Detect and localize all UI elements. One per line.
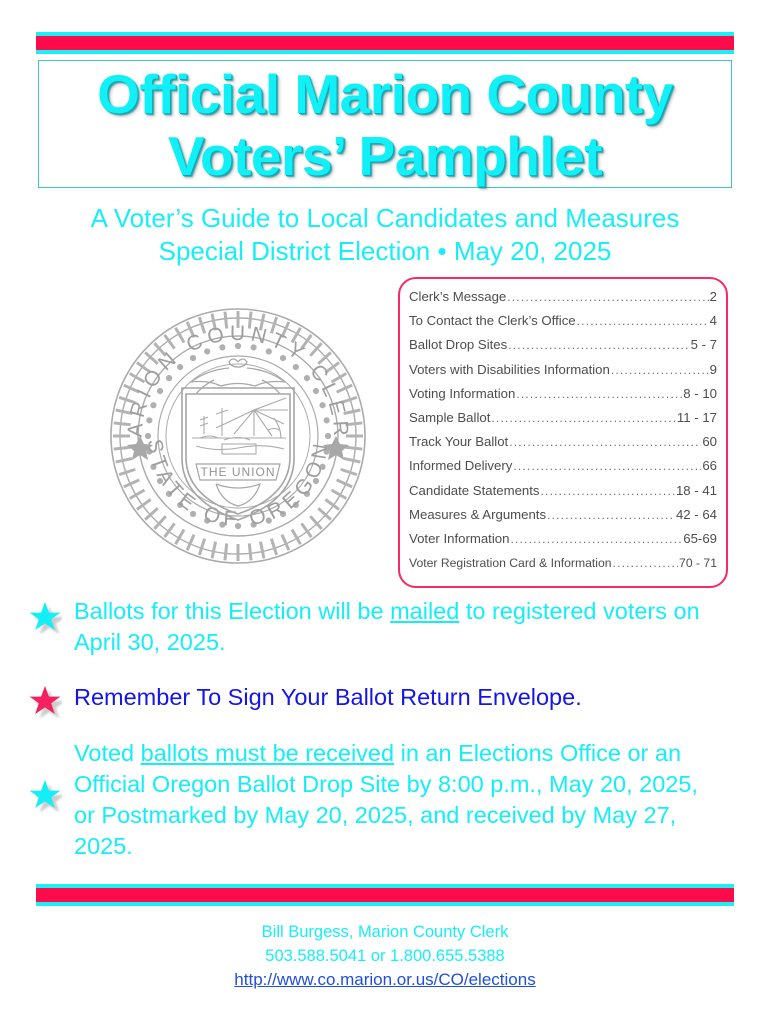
- toc-entry-label: Voter Registration Card & Information: [409, 551, 612, 575]
- toc-entry-label: Track Your Ballot: [409, 430, 508, 454]
- toc-entry-label: Clerk’s Message: [409, 285, 506, 309]
- toc-entry-pages: 42 - 64: [676, 503, 717, 527]
- star-icon: [28, 778, 62, 812]
- toc-leader-dots: ........................................…: [510, 527, 682, 551]
- toc-entry[interactable]: Track Your Ballot ......................…: [409, 430, 717, 454]
- toc-entry[interactable]: Voter Registration Card & Information ..…: [409, 551, 717, 575]
- toc-entry-label: Voting Information: [409, 382, 515, 406]
- toc-leader-dots: ........................................…: [516, 382, 682, 406]
- toc-entry-label: Informed Delivery: [409, 454, 512, 478]
- emphasis-must-be-received: ballots must be received: [141, 740, 394, 766]
- footer: Bill Burgess, Marion County Clerk 503.58…: [0, 920, 770, 992]
- toc-entry-label: Candidate Statements: [409, 479, 540, 503]
- footer-clerk-name: Bill Burgess, Marion County Clerk: [0, 920, 770, 944]
- svg-text:STATE OF OREGON: STATE OF OREGON: [143, 437, 334, 531]
- table-of-contents: Clerk’s Message ........................…: [398, 277, 728, 588]
- toc-entry-pages: 5 - 7: [691, 333, 717, 357]
- subtitle-line-2: Special District Election • May 20, 2025: [0, 235, 770, 268]
- toc-entry-pages: 60: [702, 430, 717, 454]
- toc-entry-label: Measures & Arguments: [409, 503, 546, 527]
- toc-entry[interactable]: Ballot Drop Sites ......................…: [409, 333, 717, 357]
- toc-leader-dots: ........................................…: [491, 406, 676, 430]
- toc-entry-label: Ballot Drop Sites: [409, 333, 507, 357]
- top-rule-bar: [36, 32, 734, 54]
- star-icon: [28, 600, 62, 634]
- toc-entry[interactable]: Candidate Statements ...................…: [409, 479, 717, 503]
- toc-leader-dots: ........................................…: [508, 333, 689, 357]
- toc-entry[interactable]: Informed Delivery ......................…: [409, 454, 717, 478]
- toc-leader-dots: ........................................…: [577, 309, 709, 333]
- toc-leader-dots: ........................................…: [509, 430, 701, 454]
- star-icon: [28, 684, 62, 718]
- toc-entry-label: To Contact the Clerk’s Office: [409, 309, 576, 333]
- emphasis-mailed: mailed: [390, 598, 459, 624]
- page-title-line-1: Official Marion County: [39, 63, 731, 125]
- toc-leader-dots: ........................................…: [513, 454, 701, 478]
- toc-entry-pages: 11 - 17: [677, 406, 717, 430]
- toc-entry-pages: 65-69: [683, 527, 717, 551]
- subtitle-line-1: A Voter’s Guide to Local Candidates and …: [0, 202, 770, 235]
- toc-leader-dots: ........................................…: [507, 285, 708, 309]
- toc-entry-pages: 66: [702, 454, 717, 478]
- toc-entry[interactable]: Clerk’s Message ........................…: [409, 285, 717, 309]
- toc-entry[interactable]: Voter Information ......................…: [409, 527, 717, 551]
- toc-leader-dots: ........................................…: [611, 358, 709, 382]
- marion-county-clerk-seal-icon: MARION COUNTY CLERK STATE OF OREGON: [104, 288, 372, 573]
- toc-entry-pages: 8 - 10: [683, 382, 717, 406]
- toc-entry-pages: 4: [710, 309, 717, 333]
- svg-text:THE UNION: THE UNION: [201, 465, 276, 479]
- toc-entry-pages: 70 - 71: [679, 551, 717, 575]
- toc-leader-dots: ........................................…: [541, 479, 675, 503]
- pamphlet-cover-page: Official Marion County Voters’ Pamphlet …: [0, 0, 770, 1024]
- toc-entry-label: Voters with Disabilities Information: [409, 358, 610, 382]
- toc-entry-pages: 18 - 41: [676, 479, 717, 503]
- bottom-rule-bar: [36, 884, 734, 906]
- toc-leader-dots: ........................................…: [613, 551, 679, 575]
- notice-text: Ballots for this Election will be mailed…: [74, 596, 714, 658]
- notice-text: Voted ballots must be received in an Ele…: [74, 738, 714, 862]
- toc-entry[interactable]: Voters with Disabilities Information ...…: [409, 358, 717, 382]
- page-title-line-2: Voters’ Pamphlet: [39, 125, 731, 187]
- toc-entry[interactable]: To Contact the Clerk’s Office ..........…: [409, 309, 717, 333]
- toc-entry[interactable]: Sample Ballot ..........................…: [409, 406, 717, 430]
- toc-entry-label: Sample Ballot: [409, 406, 490, 430]
- footer-website-link[interactable]: http://www.co.marion.or.us/CO/elections: [0, 968, 770, 992]
- toc-entry[interactable]: Measures & Arguments ...................…: [409, 503, 717, 527]
- toc-leader-dots: ........................................…: [547, 503, 675, 527]
- toc-entry-pages: 2: [710, 285, 717, 309]
- footer-phone: 503.588.5041 or 1.800.655.5388: [0, 944, 770, 968]
- toc-entry-pages: 9: [710, 358, 717, 382]
- title-box: Official Marion County Voters’ Pamphlet: [38, 60, 732, 188]
- notice-text: Remember To Sign Your Ballot Return Enve…: [74, 682, 714, 713]
- toc-entry[interactable]: Voting Information .....................…: [409, 382, 717, 406]
- toc-entry-label: Voter Information: [409, 527, 509, 551]
